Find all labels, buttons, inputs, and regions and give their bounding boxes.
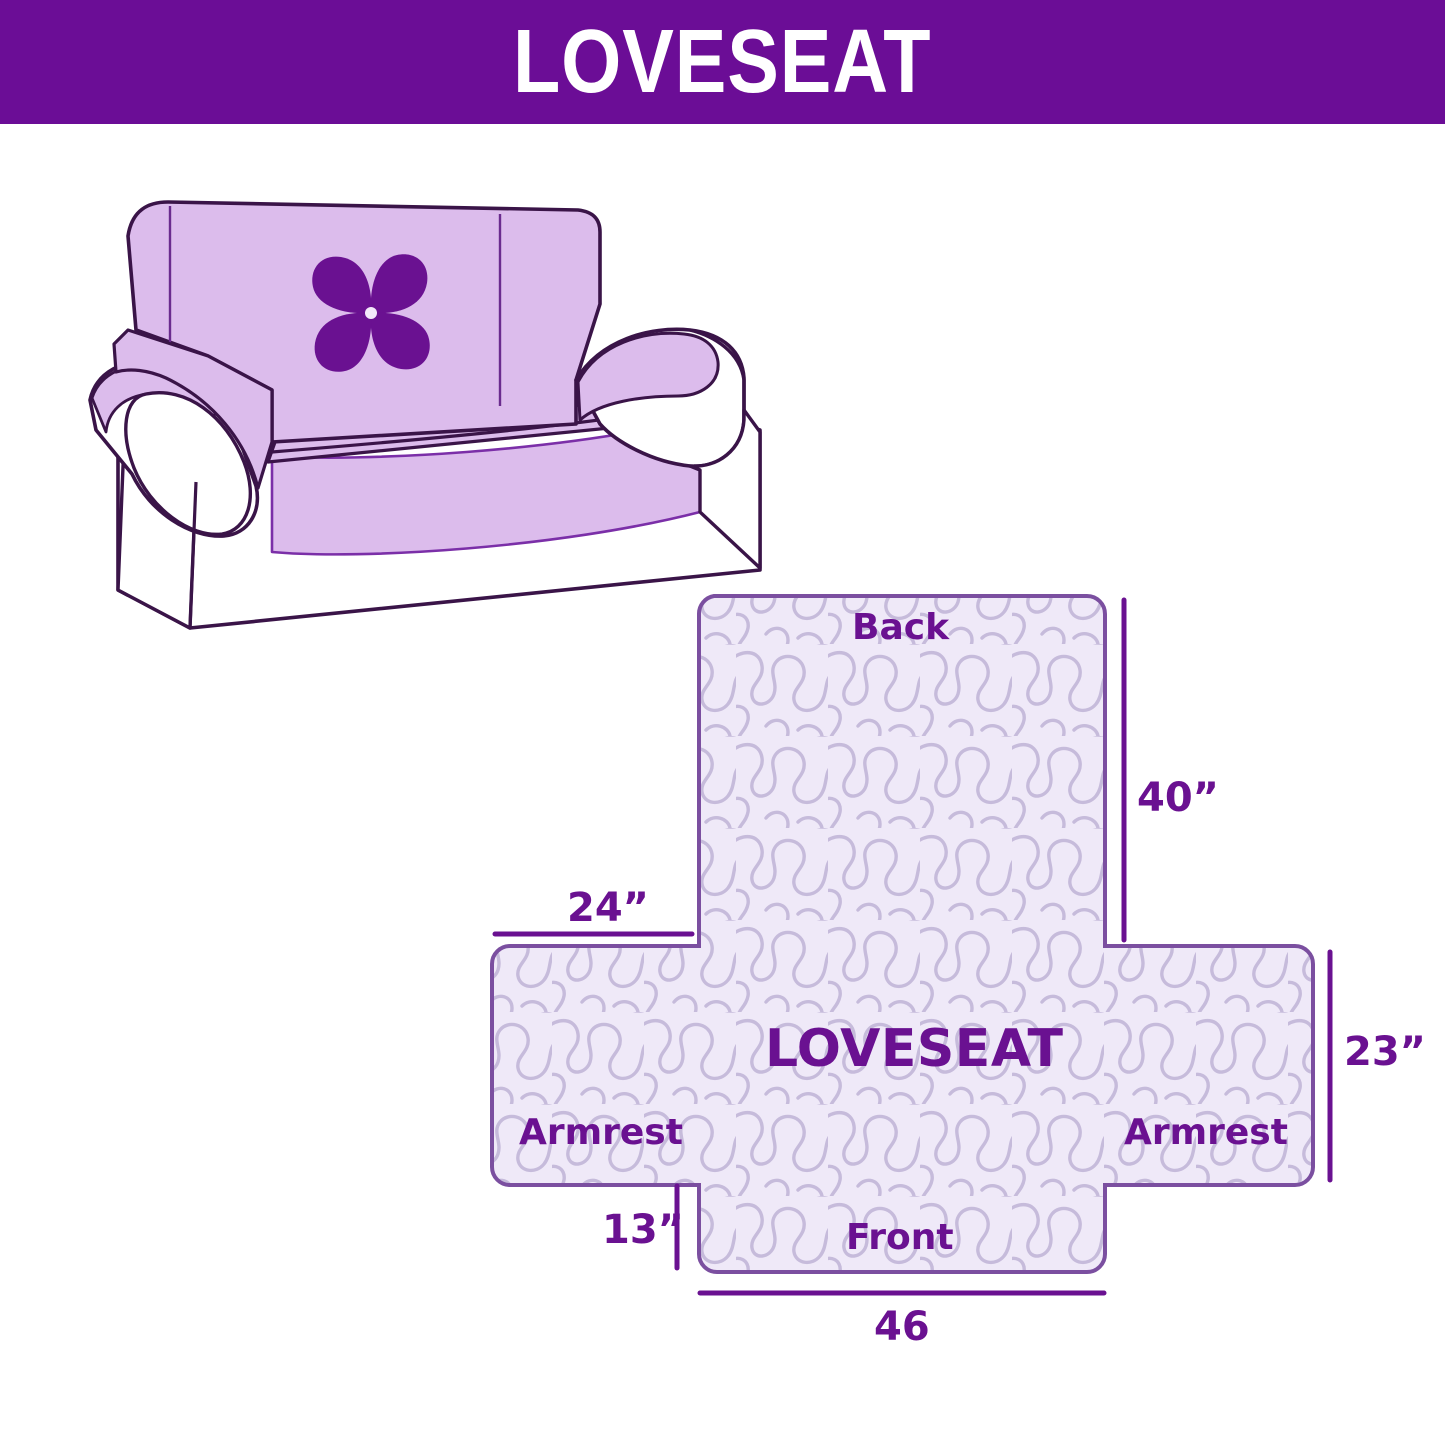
diagram-center-label: LOVESEAT [765,1023,1064,1075]
panel-label-armrest-left: Armrest [519,1115,683,1151]
dimension-label-armrest-height: 23” [1344,1032,1426,1072]
dimension-label-back-height: 40” [1137,778,1219,818]
panel-label-armrest-right: Armrest [1124,1115,1288,1151]
dimension-label-front-width: 46 [874,1307,930,1347]
panel-label-front: Front [846,1220,954,1256]
diagram-svg-layer [0,0,1445,1445]
panel-label-back: Back [852,610,949,646]
loveseat-sofa-illustration [90,202,760,628]
dimension-label-back-width: 24” [567,888,649,928]
dimension-label-front-height: 13” [602,1210,684,1250]
